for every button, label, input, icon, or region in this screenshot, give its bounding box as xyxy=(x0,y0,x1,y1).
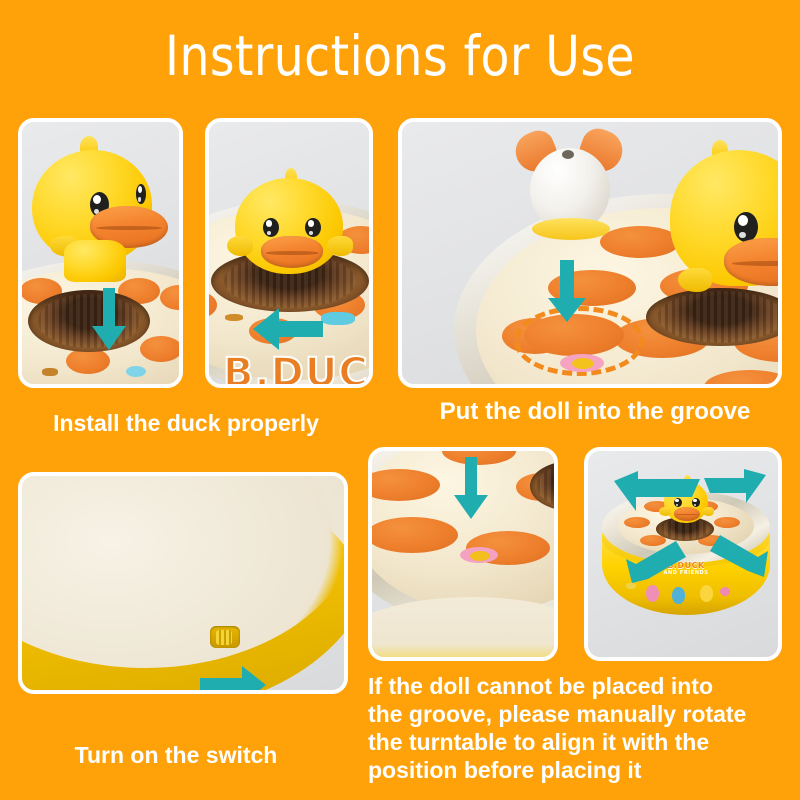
infographic-root: Instructions for Use xyxy=(0,0,800,800)
page-title: Instructions for Use xyxy=(56,26,744,86)
rotation-arrow-upper-left xyxy=(614,471,700,511)
rotation-arrow-upper-right xyxy=(704,469,766,507)
step-1-panel xyxy=(18,118,183,388)
step-5-caption: If the doll cannot be placed into the gr… xyxy=(368,672,798,784)
step-1-caption: Install the duck properly xyxy=(0,412,372,435)
step-3-caption: Put the doll into the groove xyxy=(400,400,790,424)
switch-toggle[interactable] xyxy=(216,630,232,645)
decal-sticker xyxy=(720,587,730,596)
step-4-caption: Turn on the switch xyxy=(0,744,352,767)
brand-logo-text: B.DUCK xyxy=(223,350,369,384)
left-arrow-icon xyxy=(253,308,323,350)
step-4-panel xyxy=(18,472,348,694)
duck-beak xyxy=(261,236,323,268)
step-6-panel: B.DUCK AND FRIENDS xyxy=(584,447,782,661)
white-doll-figure xyxy=(510,136,630,256)
down-arrow-icon xyxy=(548,260,586,322)
character-sticker-pink xyxy=(646,585,659,602)
turntable-hole xyxy=(140,336,179,362)
decal-sticker xyxy=(572,358,594,369)
turntable-hole xyxy=(714,517,740,528)
step-5-panel xyxy=(368,447,558,661)
duck-groove xyxy=(28,290,150,352)
character-sticker-blue xyxy=(672,587,685,604)
decal-sticker xyxy=(126,366,146,377)
turntable-hole xyxy=(624,517,650,528)
duck-eye xyxy=(136,184,146,204)
decal-sticker xyxy=(626,583,636,589)
step-2-panel: B.DUCK xyxy=(205,118,373,388)
yellow-base-edge xyxy=(372,597,554,657)
step-3-panel xyxy=(398,118,782,388)
duck-figure xyxy=(670,146,778,306)
character-sticker-yellow xyxy=(700,585,713,602)
decal-sticker xyxy=(470,551,490,561)
duck-figure xyxy=(229,174,349,284)
decal-sticker xyxy=(321,312,355,325)
duck-eye xyxy=(305,218,321,237)
duck-figure xyxy=(32,144,162,274)
rotation-arrow-lower-right xyxy=(706,535,768,579)
decal-sticker xyxy=(225,314,243,321)
decal-sticker xyxy=(42,368,58,376)
doll-collar xyxy=(532,218,610,240)
down-arrow-icon xyxy=(454,457,488,519)
rotation-arrow-lower-left xyxy=(626,539,696,583)
right-arrow-icon xyxy=(200,666,266,690)
duck-eye xyxy=(263,218,279,237)
duck-eye xyxy=(734,212,758,242)
down-arrow-icon xyxy=(92,288,126,350)
